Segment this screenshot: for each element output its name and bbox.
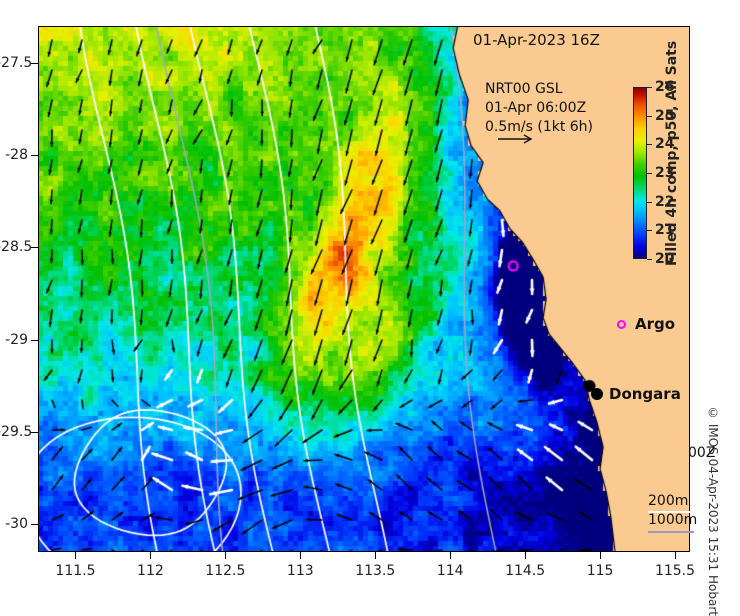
x-tick-label: 112.5 xyxy=(205,563,245,579)
depth-200-label: 200m xyxy=(648,492,697,511)
x-tick-label: 112 xyxy=(137,563,164,579)
y-tick xyxy=(31,340,38,341)
x-tick xyxy=(525,552,526,559)
x-tick-label: 114.5 xyxy=(505,563,545,579)
x-tick-label: 115 xyxy=(587,563,614,579)
y-tick xyxy=(31,524,38,525)
colorbar-tick xyxy=(647,173,652,174)
vector-key-text: NRT00 GSL 01-Apr 06:00Z 0.5m/s (1kt 6h) xyxy=(485,80,593,137)
colorbar-tick xyxy=(647,144,652,145)
depth-200-line-sample xyxy=(648,511,694,513)
clipped-timestamp: 00Z xyxy=(688,445,715,461)
colorbar-gradient xyxy=(633,87,647,259)
legend-argo: Argo xyxy=(617,315,675,333)
x-tick xyxy=(75,552,76,559)
x-tick-label: 111.5 xyxy=(55,563,95,579)
depth-1000-label: 1000m xyxy=(648,511,697,530)
argo-marker-icon xyxy=(617,320,626,329)
y-tick-label: -29 xyxy=(0,332,28,348)
x-tick xyxy=(225,552,226,559)
x-tick xyxy=(450,552,451,559)
colorbar-tick xyxy=(647,116,652,117)
dongara-marker-icon xyxy=(591,388,603,400)
colorbar: 20212223242526 xyxy=(633,87,647,259)
colorbar-tick xyxy=(647,87,652,88)
y-tick xyxy=(31,155,38,156)
legend-dongara: Dongara xyxy=(591,385,681,403)
x-tick xyxy=(600,552,601,559)
y-tick-label: -28 xyxy=(0,147,28,163)
argo-label: Argo xyxy=(635,315,675,333)
vector-key-arrow-icon xyxy=(497,133,537,145)
x-tick xyxy=(150,552,151,559)
x-tick-label: 115.5 xyxy=(655,563,695,579)
x-tick xyxy=(375,552,376,559)
y-tick-label: -27.5 xyxy=(0,55,28,71)
y-tick xyxy=(31,247,38,248)
x-tick-label: 113 xyxy=(287,563,314,579)
y-tick-label: -28.5 xyxy=(0,239,28,255)
vector-key-line2: 01-Apr 06:00Z xyxy=(485,100,586,116)
timestamp-label: 01-Apr-2023 16Z xyxy=(473,31,600,49)
colorbar-title: Filled 4h comp, p50, All Sats xyxy=(664,88,680,266)
dongara-label: Dongara xyxy=(609,385,681,403)
y-tick-label: -30 xyxy=(0,516,28,532)
x-tick xyxy=(300,552,301,559)
x-tick-label: 113.5 xyxy=(355,563,395,579)
y-tick-label: -29.5 xyxy=(0,424,28,440)
colorbar-tick xyxy=(647,230,652,231)
y-tick xyxy=(31,63,38,64)
y-tick xyxy=(31,432,38,433)
depth-1000-line-sample xyxy=(648,531,694,533)
colorbar-tick xyxy=(647,202,652,203)
imos-credit: © IMOS 04-Apr-2023 15:31 Hobart xyxy=(706,406,720,586)
x-tick-label: 114 xyxy=(437,563,464,579)
vector-key-line1: NRT00 GSL xyxy=(485,81,563,97)
colorbar-tick xyxy=(647,259,652,260)
x-tick xyxy=(675,552,676,559)
